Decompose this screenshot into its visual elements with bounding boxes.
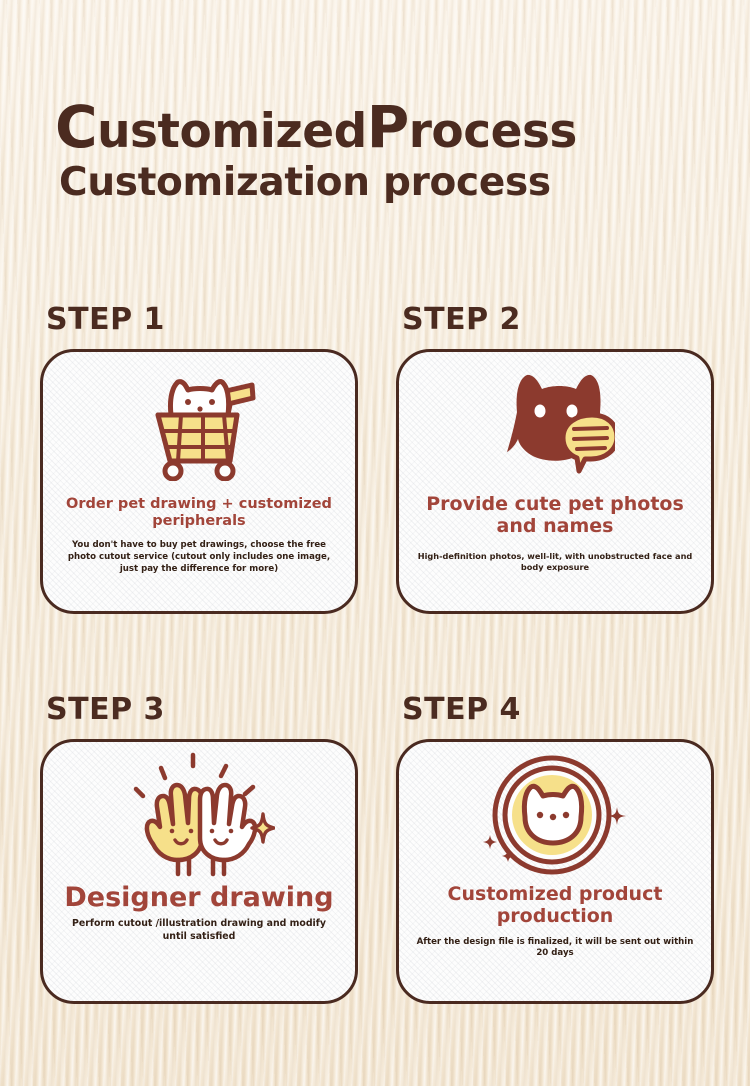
cat-with-speech-bubble-icon xyxy=(495,370,615,480)
card-description-2: High-definition photos, well-lit, with u… xyxy=(409,551,701,573)
icon-area-3 xyxy=(123,750,275,880)
step-card-4: STEP 4 xyxy=(396,695,714,1004)
icon-area-2 xyxy=(495,360,615,490)
step-label-3: STEP 3 xyxy=(46,695,358,725)
card-body-1[interactable]: Order pet drawing + customized periphera… xyxy=(40,349,358,614)
card-description-3: Perform cutout /illustration drawing and… xyxy=(53,918,345,943)
card-description-1: You don't have to buy pet drawings, choo… xyxy=(53,540,345,575)
card-title-1: Order pet drawing + customized periphera… xyxy=(53,496,345,529)
icon-area-1 xyxy=(140,360,258,490)
card-body-3[interactable]: Designer drawing Perform cutout /illustr… xyxy=(40,739,358,1004)
card-title-4: Customized product production xyxy=(409,884,701,928)
step-card-1: STEP 1 xyxy=(40,305,358,614)
icon-area-4 xyxy=(480,750,630,880)
text-area-1: Order pet drawing + customized periphera… xyxy=(43,490,355,611)
text-area-3: Designer drawing Perform cutout /illustr… xyxy=(43,880,355,1001)
step-card-3: STEP 3 xyxy=(40,695,358,1004)
card-body-2[interactable]: Provide cute pet photos and names High-d… xyxy=(396,349,714,614)
step-card-2: STEP 2 Provide cute p xyxy=(396,305,714,614)
step-label-1: STEP 1 xyxy=(46,305,358,335)
text-area-2: Provide cute pet photos and names High-d… xyxy=(399,490,711,611)
card-body-4[interactable]: Customized product production After the … xyxy=(396,739,714,1004)
card-title-3: Designer drawing xyxy=(53,882,345,913)
high-five-hands-icon xyxy=(123,752,275,878)
card-description-4: After the design file is finalized, it w… xyxy=(409,937,701,960)
step-label-2: STEP 2 xyxy=(402,305,714,335)
text-area-4: Customized product production After the … xyxy=(399,880,711,1001)
steps-grid: STEP 1 xyxy=(0,0,750,1086)
step-label-4: STEP 4 xyxy=(402,695,714,725)
cat-medal-coin-icon xyxy=(480,751,630,879)
shopping-cart-with-cat-icon xyxy=(140,369,258,481)
card-title-2: Provide cute pet photos and names xyxy=(409,494,701,538)
